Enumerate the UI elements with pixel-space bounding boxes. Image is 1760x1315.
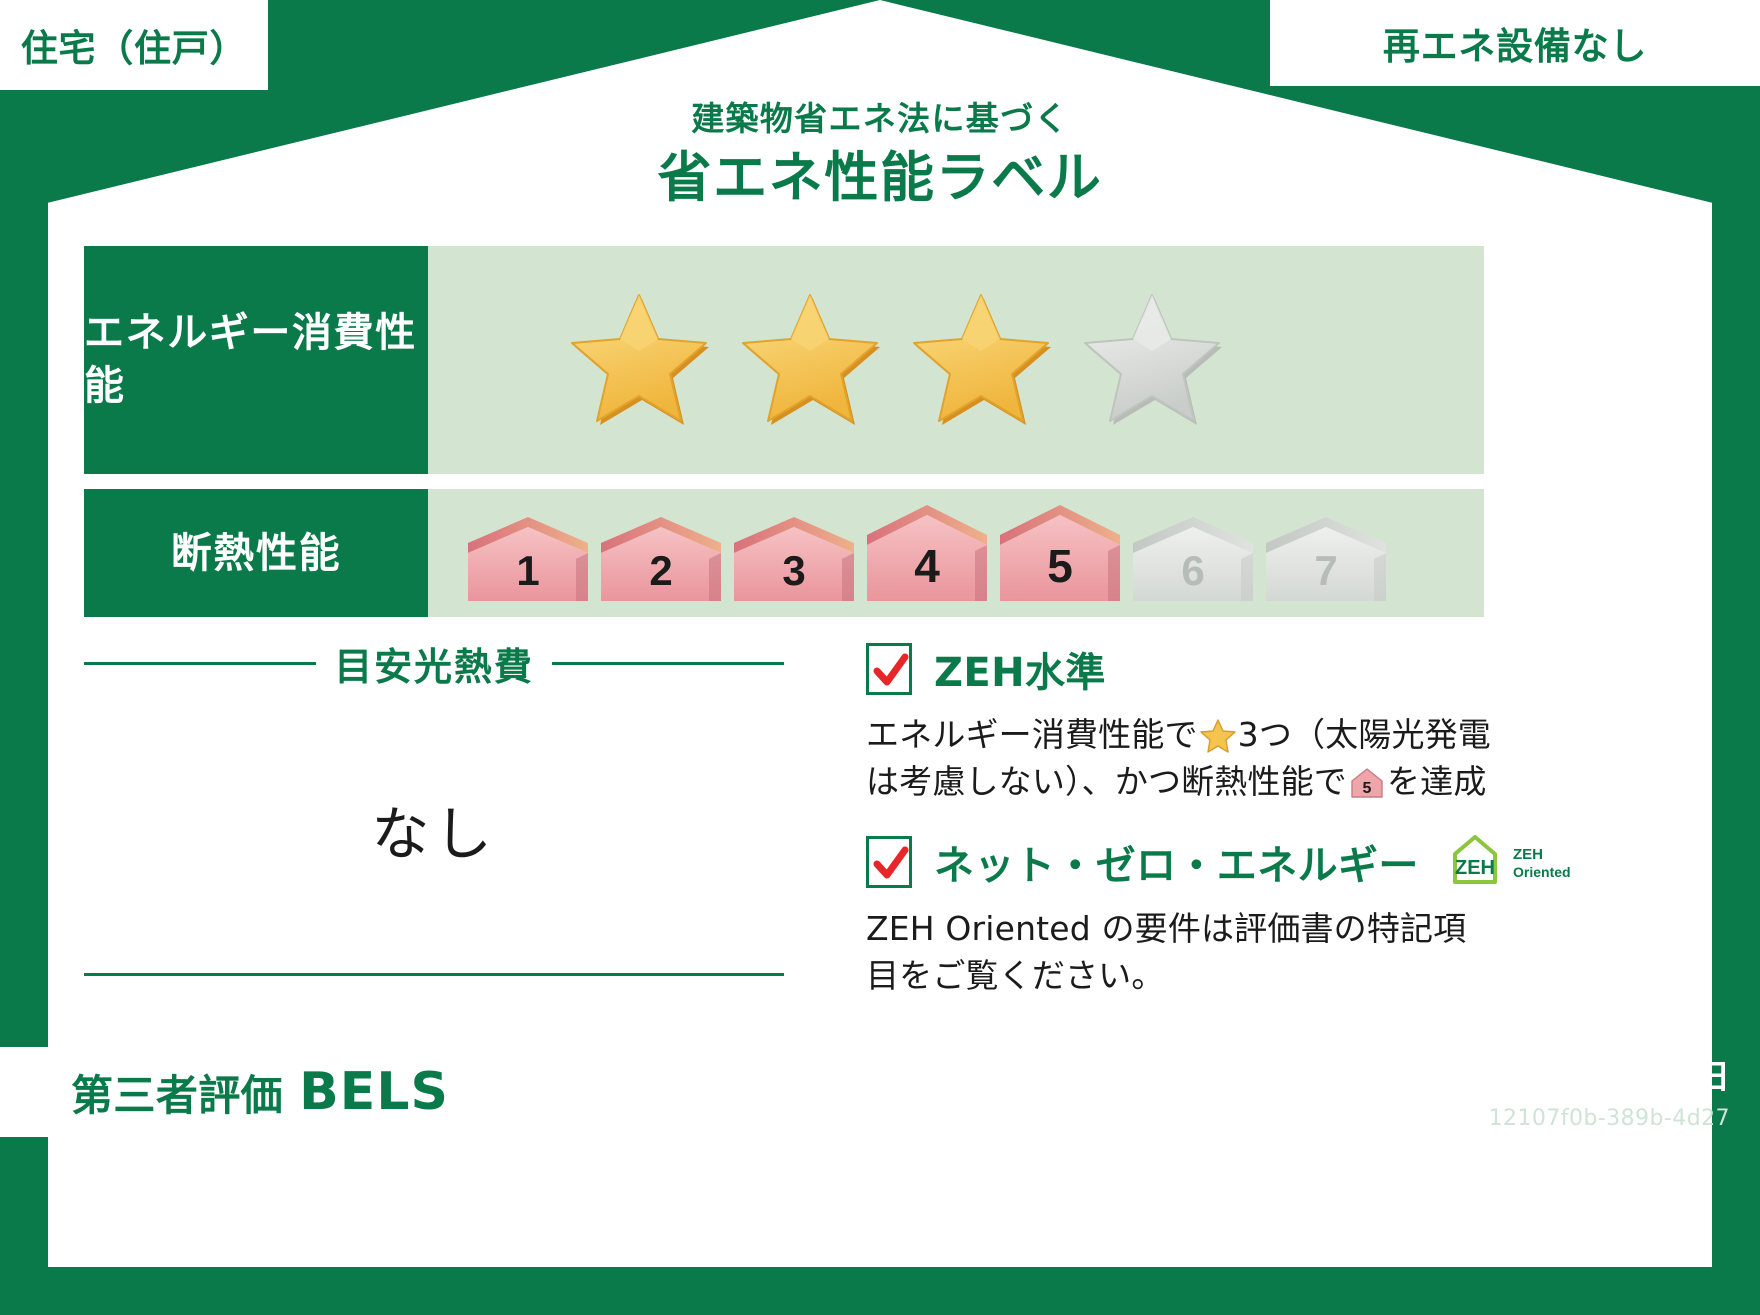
utility-cost-value: なし bbox=[84, 787, 784, 871]
svg-text:ZEH: ZEH bbox=[1513, 846, 1543, 863]
insulation-level-achieved: 2 bbox=[597, 513, 725, 605]
row-insulation-performance: 断熱性能 1234567 bbox=[84, 489, 1484, 617]
star-icon-filled bbox=[736, 289, 884, 431]
row-energy-label: エネルギー消費性能 bbox=[84, 246, 428, 474]
utility-rule-left bbox=[84, 662, 316, 665]
star-icon-filled bbox=[565, 289, 713, 431]
utility-rule-right bbox=[552, 662, 784, 665]
evaluation-id: 12107f0b-389b-4d27 bbox=[1250, 1106, 1730, 1131]
house-level-number: 5 bbox=[1362, 780, 1371, 797]
utility-cost-title: 目安光熱費 bbox=[334, 636, 534, 691]
row-energy-label-text: エネルギー消費性能 bbox=[84, 307, 428, 413]
utility-cost-header: 目安光熱費 bbox=[84, 636, 784, 691]
net-zero-energy-label: ネット・ゼロ・エネルギー bbox=[934, 833, 1419, 891]
insulation-level-number: 1 bbox=[464, 547, 592, 595]
net-zero-energy-checkbox[interactable] bbox=[866, 836, 912, 888]
badge-dwelling-type: 住宅（住戸） bbox=[0, 0, 268, 90]
footer-meta: 評価日 2025年7月4日 12107f0b-389b-4d27 bbox=[1250, 1050, 1730, 1131]
utility-cost-block: 目安光熱費 なし bbox=[84, 636, 784, 976]
row-insulation-label-text: 断熱性能 bbox=[171, 526, 342, 580]
insulation-level-number: 4 bbox=[863, 539, 991, 593]
title-subtitle: 建築物省エネ法に基づく bbox=[0, 98, 1760, 139]
insulation-level-achieved: 1 bbox=[464, 513, 592, 605]
insulation-level-number: 2 bbox=[597, 547, 725, 595]
zeh-desc-part-1: エネルギー消費性能で bbox=[866, 715, 1198, 754]
house-level-icon: 5 bbox=[1349, 766, 1385, 800]
check-icon bbox=[871, 649, 911, 693]
insulation-level-number: 6 bbox=[1129, 547, 1257, 595]
net-zero-desc-line-2: 目をご覧ください。 bbox=[866, 956, 1165, 995]
insulation-level-number: 3 bbox=[730, 547, 858, 595]
page-title: 省エネ性能ラベル bbox=[0, 144, 1760, 212]
star-icon bbox=[1200, 719, 1236, 753]
insulation-level-scale: 1234567 bbox=[452, 501, 1390, 605]
insulation-level-number: 5 bbox=[996, 539, 1124, 593]
star-icon-empty bbox=[1078, 289, 1226, 431]
row-insulation-value: 1234567 bbox=[428, 489, 1484, 617]
third-party-evaluation-label: 第三者評価 bbox=[71, 1062, 283, 1123]
svg-text:Oriented: Oriented bbox=[1513, 864, 1571, 880]
badge-renewable-equipment: 再エネ設備なし bbox=[1270, 0, 1760, 86]
insulation-level-number: 7 bbox=[1262, 547, 1390, 595]
zeh-standard-header: ZEH水準 bbox=[866, 640, 1496, 698]
insulation-level-achieved: 4 bbox=[863, 501, 991, 605]
bels-wordmark: BELS bbox=[299, 1062, 449, 1122]
zeh-desc-part-4: を達成 bbox=[1387, 762, 1487, 801]
star-rating bbox=[452, 289, 1226, 431]
zeh-desc-part-2: 3つ（太陽光発電 bbox=[1238, 715, 1491, 754]
star-icon-filled bbox=[907, 289, 1055, 431]
badge-renewable-label: 再エネ設備なし bbox=[1383, 16, 1647, 70]
net-zero-energy-header: ネット・ゼロ・エネルギー ZEH ZEH Oriented bbox=[866, 832, 1496, 892]
net-zero-desc-line-1: ZEH Oriented の要件は評価書の特記項 bbox=[866, 909, 1466, 948]
property-address: 札幌市東区北36条東10丁目2棟 2号棟-52074023-0002 bbox=[528, 1050, 1168, 1128]
zeh-desc-part-3: は考慮しない）、かつ断熱性能で bbox=[866, 762, 1347, 801]
utility-rule-bottom bbox=[84, 973, 784, 976]
insulation-level-inactive: 6 bbox=[1129, 513, 1257, 605]
zeh-standard-description: エネルギー消費性能で3つ（太陽光発電 は考慮しない）、かつ断熱性能で5を達成 bbox=[866, 712, 1496, 806]
row-insulation-label: 断熱性能 bbox=[84, 489, 428, 617]
zeh-standard-label: ZEH水準 bbox=[934, 640, 1106, 698]
check-icon bbox=[871, 842, 911, 886]
insulation-level-achieved: 3 bbox=[730, 513, 858, 605]
svg-text:ZEH: ZEH bbox=[1455, 857, 1495, 879]
energy-label-root: 住宅（住戸） 再エネ設備なし 建築物省エネ法に基づく 省エネ性能ラベル エネルギ… bbox=[0, 0, 1760, 1315]
evaluation-date: 評価日 2025年7月4日 bbox=[1250, 1050, 1730, 1098]
zeh-block: ZEH水準 エネルギー消費性能で3つ（太陽光発電 は考慮しない）、かつ断熱性能で… bbox=[866, 640, 1496, 999]
zeh-standard-checkbox[interactable] bbox=[866, 643, 912, 695]
insulation-level-achieved: 5 bbox=[996, 501, 1124, 605]
insulation-level-inactive: 7 bbox=[1262, 513, 1390, 605]
bels-logo-box: 第三者評価 BELS bbox=[0, 1047, 520, 1137]
badge-dwelling-label: 住宅（住戸） bbox=[21, 18, 247, 72]
row-energy-performance: エネルギー消費性能 bbox=[84, 246, 1484, 474]
zeh-oriented-logo: ZEH ZEH Oriented bbox=[1451, 832, 1601, 892]
label-title-block: 建築物省エネ法に基づく 省エネ性能ラベル bbox=[0, 98, 1760, 212]
row-energy-value bbox=[428, 246, 1484, 474]
net-zero-energy-description: ZEH Oriented の要件は評価書の特記項 目をご覧ください。 bbox=[866, 906, 1496, 1000]
